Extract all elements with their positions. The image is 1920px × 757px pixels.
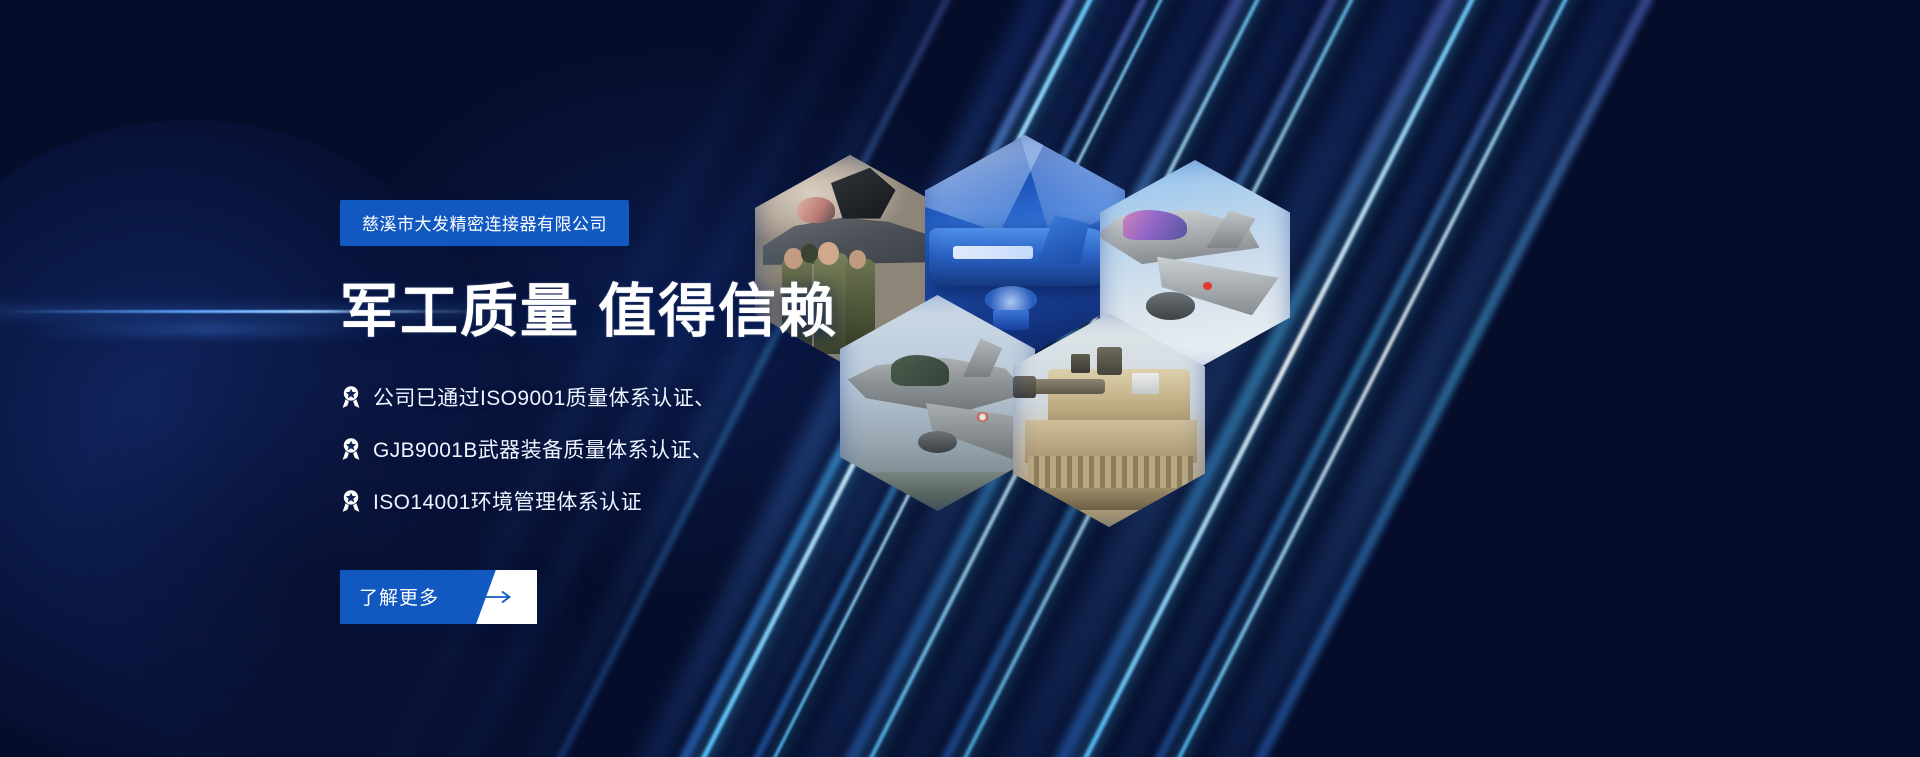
- medal-icon: [340, 385, 362, 409]
- medal-icon: [340, 489, 362, 513]
- list-item-label: GJB9001B武器装备质量体系认证、: [373, 434, 713, 464]
- arrow-right-icon: [481, 589, 515, 605]
- hero-banner: 慈溪市大发精密连接器有限公司 军工质量 值得信赖 公司已通过ISO9001质量体…: [0, 0, 1920, 757]
- list-item: 公司已通过ISO9001质量体系认证、: [340, 382, 900, 412]
- learn-more-button[interactable]: 了解更多: [340, 570, 537, 624]
- page-title: 军工质量 值得信赖: [340, 280, 900, 344]
- list-item-label: 公司已通过ISO9001质量体系认证、: [373, 382, 716, 412]
- list-item: ISO14001环境管理体系认证: [340, 486, 900, 516]
- company-badge: 慈溪市大发精密连接器有限公司: [340, 200, 629, 246]
- list-item: GJB9001B武器装备质量体系认证、: [340, 434, 900, 464]
- hero-content: 慈溪市大发精密连接器有限公司 军工质量 值得信赖 公司已通过ISO9001质量体…: [340, 200, 900, 624]
- list-item-label: ISO14001环境管理体系认证: [373, 486, 642, 516]
- medal-icon: [340, 437, 362, 461]
- certification-list: 公司已通过ISO9001质量体系认证、 GJB9001B武器装备质量体系认证、: [340, 382, 900, 516]
